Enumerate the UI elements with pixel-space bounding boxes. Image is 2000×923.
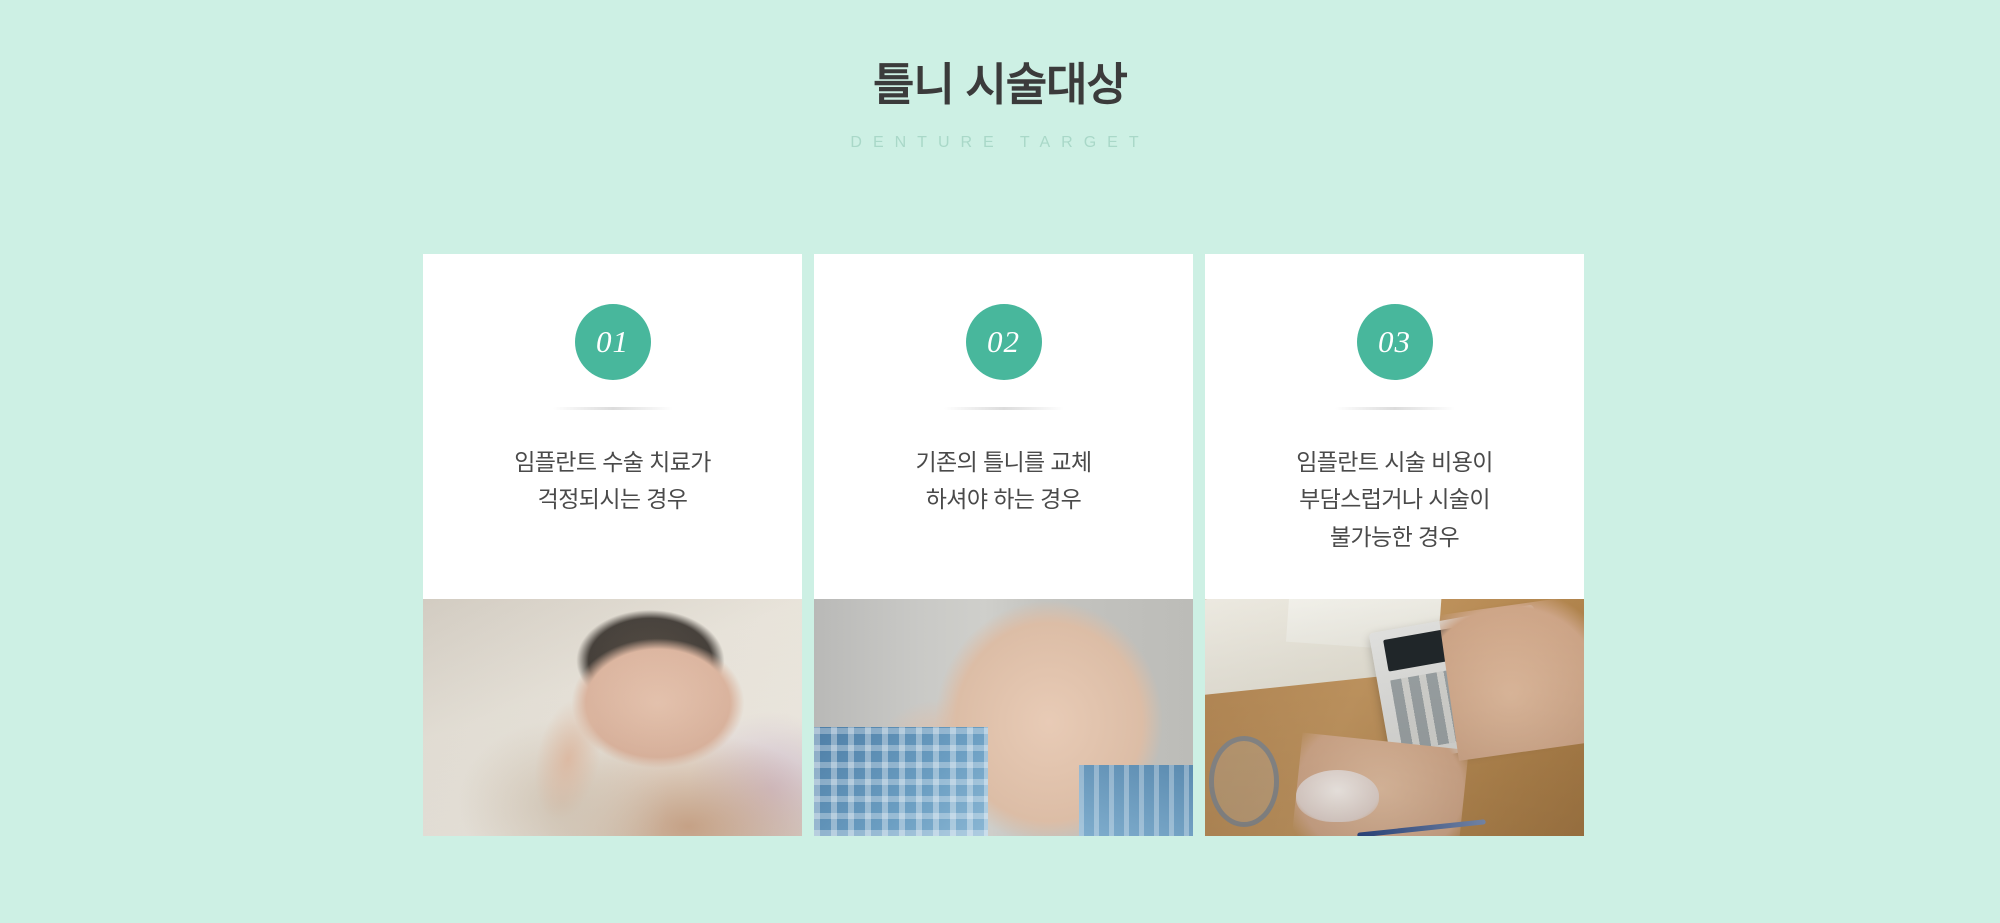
divider (944, 407, 1064, 410)
list-item[interactable]: 03 임플란트 시술 비용이 부담스럽거나 시술이 불가능한 경우 (1205, 254, 1584, 836)
card-content: 03 임플란트 시술 비용이 부담스럽거나 시술이 불가능한 경우 (1205, 254, 1584, 599)
photo-elderly-woman-worried (423, 599, 802, 836)
card-description: 임플란트 수술 치료가 걱정되시는 경우 (514, 444, 711, 519)
divider (1335, 407, 1455, 410)
card-description: 임플란트 시술 비용이 부담스럽거나 시술이 불가능한 경우 (1296, 444, 1493, 556)
card-list: 01 임플란트 수술 치료가 걱정되시는 경우 02 기존의 틀니를 교체 하셔… (423, 254, 1584, 836)
section-heading: 틀니 시술대상 DENTURE TARGET (0, 58, 2000, 152)
photo-elderly-person-mouth-pain (814, 599, 1193, 836)
denture-target-section: 틀니 시술대상 DENTURE TARGET 01 임플란트 수술 치료가 걱정… (0, 0, 2000, 923)
divider (553, 407, 673, 410)
list-item[interactable]: 02 기존의 틀니를 교체 하셔야 하는 경우 (814, 254, 1193, 836)
page-title: 틀니 시술대상 (0, 58, 2000, 112)
photo-shading (1205, 599, 1584, 836)
page-subtitle: DENTURE TARGET (0, 134, 2000, 152)
card-content: 01 임플란트 수술 치료가 걱정되시는 경우 (423, 254, 802, 599)
step-badge: 03 (1357, 304, 1433, 380)
step-badge: 02 (966, 304, 1042, 380)
card-description: 기존의 틀니를 교체 하셔야 하는 경우 (915, 444, 1091, 519)
photo-calculator-denture-cost (1205, 599, 1584, 836)
step-badge: 01 (575, 304, 651, 380)
list-item[interactable]: 01 임플란트 수술 치료가 걱정되시는 경우 (423, 254, 802, 836)
card-content: 02 기존의 틀니를 교체 하셔야 하는 경우 (814, 254, 1193, 599)
